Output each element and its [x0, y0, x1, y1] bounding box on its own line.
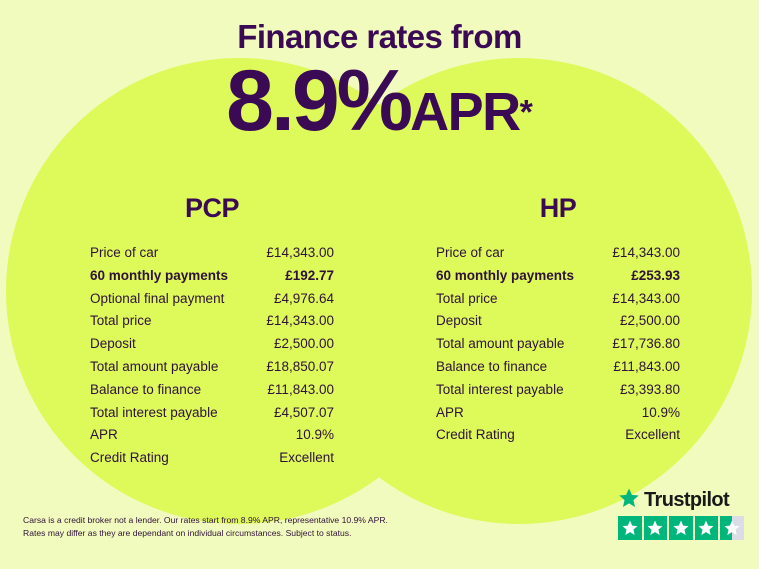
- finance-row-value: £253.93: [631, 265, 680, 288]
- finance-row: 60 monthly payments£192.77: [90, 265, 334, 288]
- finance-row-value: £3,393.80: [620, 379, 680, 402]
- trustpilot-wordmark: Trustpilot: [644, 490, 729, 510]
- trustpilot-widget[interactable]: Trustpilot: [618, 488, 744, 540]
- finance-row-value: £11,843.00: [613, 356, 680, 379]
- finance-row-label: APR: [90, 424, 118, 447]
- finance-rows-pcp: Price of car£14,343.0060 monthly payment…: [62, 242, 362, 470]
- finance-row-label: 60 monthly payments: [90, 265, 228, 288]
- finance-row-label: Credit Rating: [90, 447, 169, 470]
- finance-row: Total price£14,343.00: [436, 288, 680, 311]
- finance-row: Balance to finance£11,843.00: [436, 356, 680, 379]
- finance-row: Total amount payable£18,850.07: [90, 356, 334, 379]
- trustpilot-star-full: [669, 516, 693, 540]
- finance-row-value: 10.9%: [642, 402, 680, 425]
- finance-row-label: Balance to finance: [90, 379, 201, 402]
- finance-row-value: Excellent: [625, 424, 680, 447]
- finance-row-value: £2,500.00: [620, 310, 680, 333]
- finance-row: Credit RatingExcellent: [436, 424, 680, 447]
- finance-row-value: £14,343.00: [612, 288, 680, 311]
- finance-row-label: Total amount payable: [90, 356, 218, 379]
- finance-row: 60 monthly payments£253.93: [436, 265, 680, 288]
- column-title-hp: HP: [408, 193, 708, 224]
- finance-row-value: £192.77: [285, 265, 334, 288]
- finance-row: Credit RatingExcellent: [90, 447, 334, 470]
- finance-row-label: Deposit: [90, 333, 136, 356]
- headline-rate: 8.9%APR*: [0, 58, 759, 144]
- finance-row-value: £2,500.00: [274, 333, 334, 356]
- finance-row-label: APR: [436, 402, 464, 425]
- finance-row: Deposit£2,500.00: [436, 310, 680, 333]
- finance-row-value: £14,343.00: [612, 242, 680, 265]
- trustpilot-star-full: [695, 516, 719, 540]
- trustpilot-rating-stars: [618, 516, 744, 540]
- finance-row-value: 10.9%: [296, 424, 334, 447]
- finance-row-value: Excellent: [279, 447, 334, 470]
- finance-row-label: Total interest payable: [436, 379, 564, 402]
- finance-row: Price of car£14,343.00: [90, 242, 334, 265]
- finance-row: Total price£14,343.00: [90, 310, 334, 333]
- finance-row-label: Balance to finance: [436, 356, 547, 379]
- rate-asterisk: *: [520, 94, 533, 132]
- rate-apr-label: APR: [410, 82, 520, 142]
- column-title-pcp: PCP: [62, 193, 362, 224]
- finance-column-pcp: PCP Price of car£14,343.0060 monthly pay…: [62, 193, 362, 470]
- finance-row: Deposit£2,500.00: [90, 333, 334, 356]
- trustpilot-star-half: [720, 516, 744, 540]
- finance-row-label: Total interest payable: [90, 402, 218, 425]
- disclaimer-line-2: Rates may differ as they are dependant o…: [23, 527, 443, 540]
- finance-row-value: £14,343.00: [266, 310, 334, 333]
- trustpilot-star-full: [618, 516, 642, 540]
- finance-row-value: £11,843.00: [267, 379, 334, 402]
- rate-value: 8.9%: [226, 53, 410, 149]
- finance-row-value: £14,343.00: [266, 242, 334, 265]
- finance-row-label: Credit Rating: [436, 424, 515, 447]
- finance-rows-hp: Price of car£14,343.0060 monthly payment…: [408, 242, 708, 447]
- finance-row: APR10.9%: [436, 402, 680, 425]
- trustpilot-brand: Trustpilot: [618, 488, 744, 512]
- finance-row-label: Optional final payment: [90, 288, 224, 311]
- finance-row-value: £17,736.80: [612, 333, 680, 356]
- finance-rates-poster: Finance rates from 8.9%APR* PCP Price of…: [0, 0, 759, 569]
- finance-row: Balance to finance£11,843.00: [90, 379, 334, 402]
- finance-row-label: 60 monthly payments: [436, 265, 574, 288]
- finance-row-value: £4,507.07: [274, 402, 334, 425]
- finance-row-label: Price of car: [436, 242, 504, 265]
- finance-row: Price of car£14,343.00: [436, 242, 680, 265]
- finance-row: Total interest payable£4,507.07: [90, 402, 334, 425]
- finance-row: Total interest payable£3,393.80: [436, 379, 680, 402]
- finance-column-hp: HP Price of car£14,343.0060 monthly paym…: [408, 193, 708, 447]
- finance-row-label: Deposit: [436, 310, 482, 333]
- disclaimer-text: Carsa is a credit broker not a lender. O…: [23, 514, 443, 540]
- headline-kicker: Finance rates from: [0, 18, 759, 56]
- finance-row: Total amount payable£17,736.80: [436, 333, 680, 356]
- finance-row-label: Total price: [90, 310, 152, 333]
- trustpilot-star-icon: [618, 487, 640, 514]
- finance-row-label: Total amount payable: [436, 333, 564, 356]
- finance-row-label: Total price: [436, 288, 498, 311]
- finance-row-label: Price of car: [90, 242, 158, 265]
- disclaimer-line-1: Carsa is a credit broker not a lender. O…: [23, 514, 443, 527]
- finance-row-value: £18,850.07: [266, 356, 334, 379]
- trustpilot-star-full: [644, 516, 668, 540]
- finance-row-value: £4,976.64: [274, 288, 334, 311]
- finance-row: APR10.9%: [90, 424, 334, 447]
- finance-row: Optional final payment£4,976.64: [90, 288, 334, 311]
